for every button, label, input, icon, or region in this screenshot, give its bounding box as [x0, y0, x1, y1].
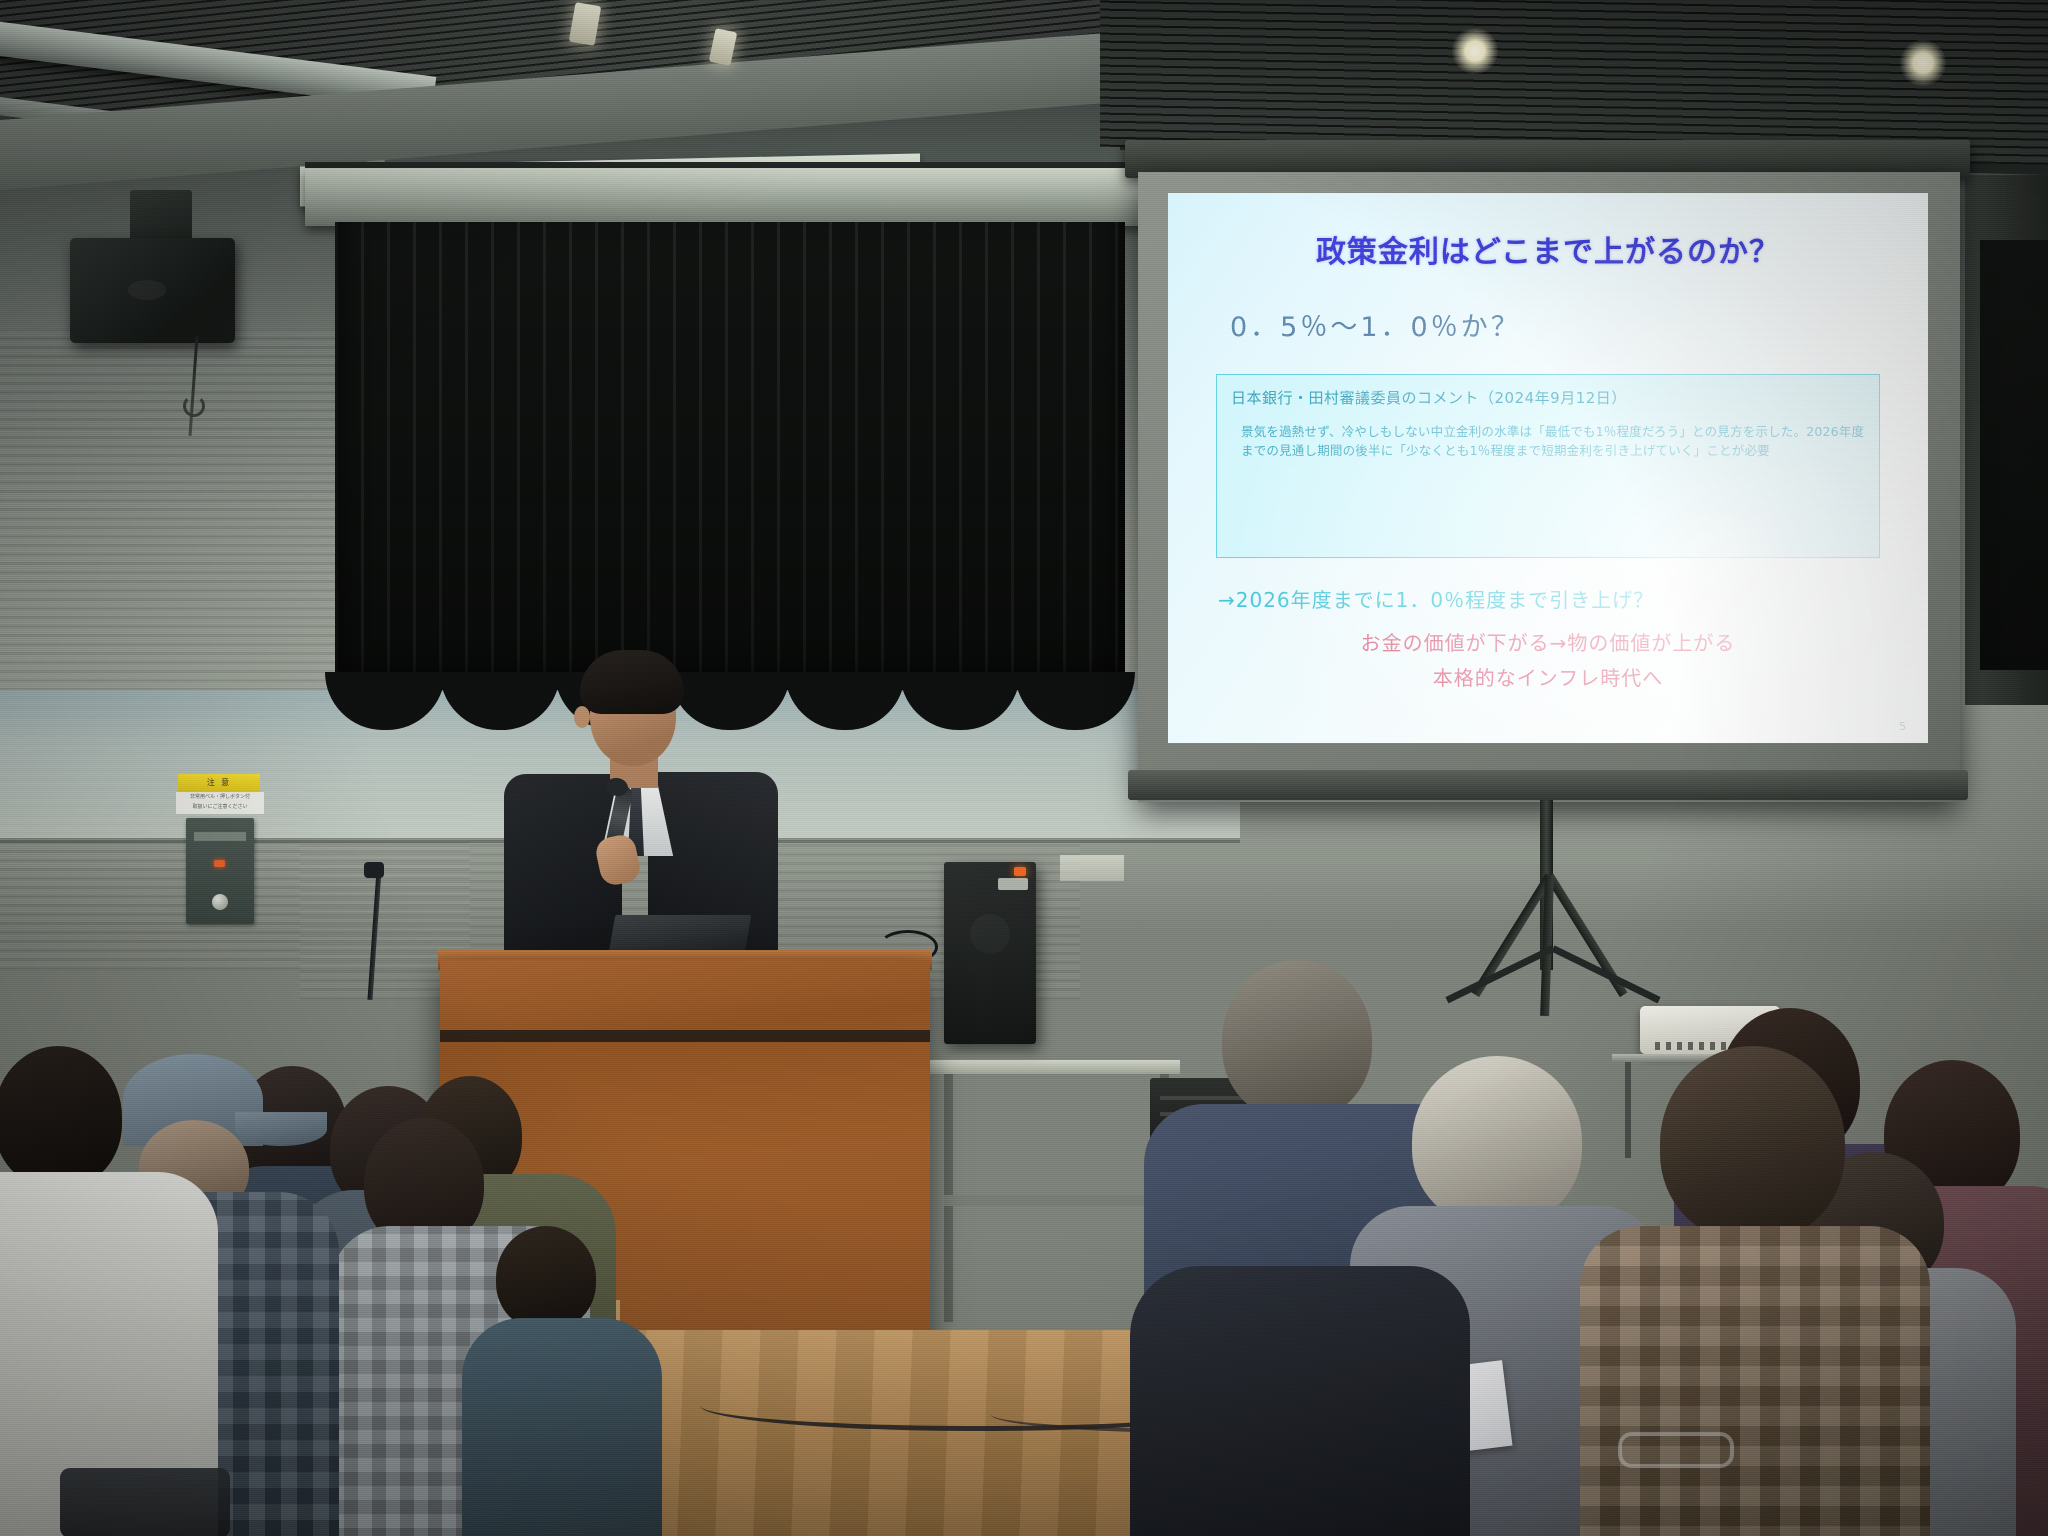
- audience-member: [0, 1056, 220, 1536]
- audience-member: [1590, 1206, 1920, 1536]
- slide-page-number: 5: [1899, 720, 1906, 733]
- speaker-driver-cone: [970, 914, 1010, 954]
- right-dark-panel: [1980, 240, 2048, 670]
- cap-brim: [235, 1112, 327, 1146]
- screen-bottom-weight-bar: [1128, 770, 1968, 800]
- warning-sign-line1: 非常用ベル・押しボタン付: [176, 792, 264, 802]
- audience-head: [1660, 1046, 1845, 1241]
- audience-head: [0, 1046, 122, 1188]
- warning-sign-yellow: 注 意: [178, 774, 260, 792]
- warning-sign-white: 非常用ベル・押しボタン付 取扱いにご注意ください: [176, 792, 264, 814]
- emergency-push-button[interactable]: [212, 894, 228, 910]
- floor-speaker-icon: [944, 862, 1036, 1044]
- microphone-head-icon: [364, 862, 384, 878]
- speaker-cone: [128, 280, 166, 300]
- ceiling-lamp-icon: [1452, 28, 1498, 74]
- slide-quote-box: 日本銀行・田村審議委員のコメント（2024年9月12日） 景気を過熱せず、冷やし…: [1216, 374, 1880, 558]
- slide-conclusion-line: →2026年度までに1．0％程度まで引き上げ？: [1194, 584, 1902, 613]
- audience-member: [1130, 1236, 1460, 1536]
- status-led-icon: [214, 860, 225, 867]
- side-table-top: [930, 1060, 1180, 1074]
- audience-body: [1580, 1226, 1930, 1536]
- audience-head: [1222, 960, 1372, 1120]
- photo-scene: 注 意 非常用ベル・押しボタン付 取扱いにご注意ください 政策金利はどこまで上が…: [0, 0, 2048, 1536]
- device-label-plate: [194, 832, 246, 841]
- slide-emphasis-line-1: お金の価値が下がる→物の価値が上がる: [1194, 627, 1902, 656]
- laptop-icon[interactable]: [609, 915, 752, 953]
- projection-screen-surface: 政策金利はどこまで上がるのか？ 0．5％～1．0％か？ 日本銀行・田村審議委員の…: [1168, 193, 1928, 743]
- lectern-trim-band: [440, 1030, 930, 1042]
- audience-head: [1412, 1056, 1582, 1226]
- curtain-rail: [305, 168, 1165, 226]
- presentation-slide: 政策金利はどこまで上がるのか？ 0．5％～1．0％か？ 日本銀行・田村審議委員の…: [1168, 193, 1928, 743]
- warning-sign-label: 注 意: [178, 774, 260, 792]
- wall-notice-plate: [1060, 855, 1124, 881]
- warning-sign-line2: 取扱いにご注意ください: [176, 802, 264, 812]
- emergency-call-device[interactable]: [186, 818, 254, 924]
- chair-back: [60, 1468, 230, 1536]
- quote-box-body: 景気を過熱せず、冷やしもしない中立金利の水準は「最低でも1％程度だろう」との見方…: [1231, 422, 1865, 461]
- audience-body: [1130, 1266, 1470, 1536]
- stage-curtain: [335, 222, 1125, 692]
- slide-subtitle: 0．5％～1．0％か？: [1230, 305, 1902, 344]
- side-table-shelf: [944, 1195, 1166, 1206]
- presenter-hair: [580, 650, 684, 714]
- wall-speaker-icon: [70, 238, 235, 343]
- slide-emphasis-line-2: 本格的なインフレ時代へ: [1194, 662, 1902, 691]
- speaker-handle: [998, 878, 1028, 890]
- quote-box-heading: 日本銀行・田村審議委員のコメント（2024年9月12日）: [1231, 387, 1865, 408]
- audience-head: [496, 1226, 596, 1330]
- slide-title: 政策金利はどこまで上がるのか？: [1194, 227, 1902, 271]
- ceiling-lamp-icon: [1900, 40, 1946, 86]
- speaker-power-led-icon: [1014, 867, 1026, 876]
- speaker-cable-hook: [183, 395, 205, 417]
- eyeglasses-icon: [1618, 1432, 1734, 1468]
- audience-member: [470, 1236, 650, 1536]
- audience-body: [462, 1318, 662, 1536]
